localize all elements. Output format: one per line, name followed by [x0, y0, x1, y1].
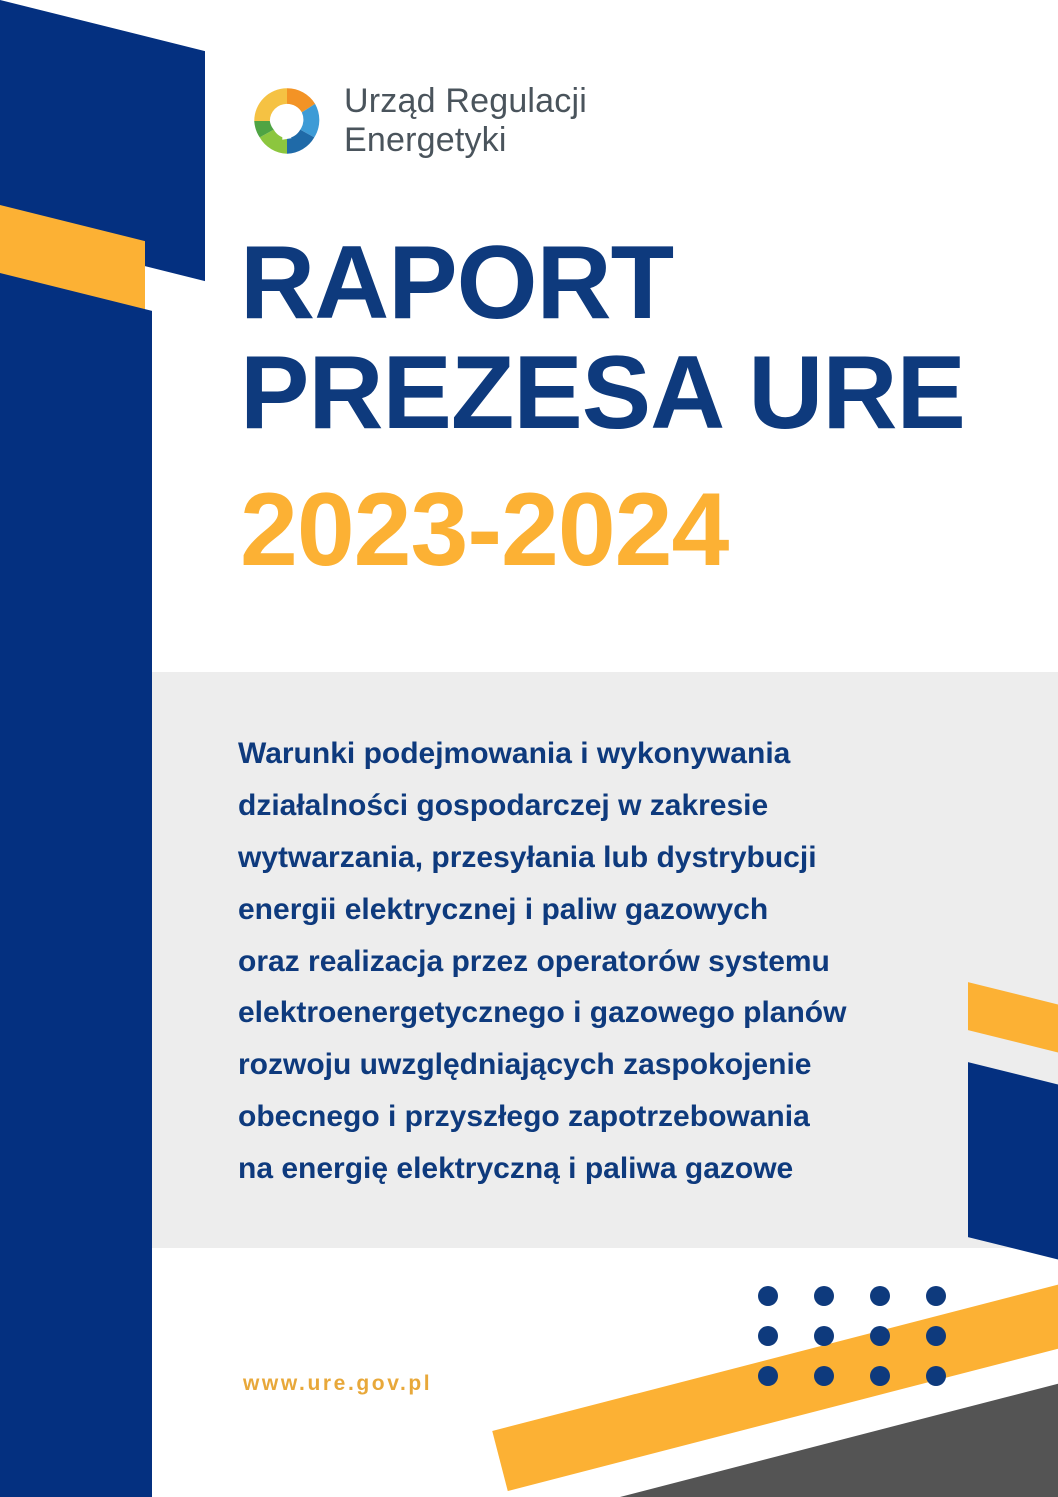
dot	[814, 1366, 834, 1386]
subtitle-text: Warunki podejmowania i wykonywania dział…	[238, 728, 958, 1195]
dot	[926, 1286, 946, 1306]
dot	[758, 1286, 778, 1306]
left-blue-vertical-band	[0, 320, 152, 1497]
right-blue-band	[968, 1062, 1058, 1267]
dot	[758, 1326, 778, 1346]
website-url[interactable]: www.ure.gov.pl	[243, 1372, 432, 1396]
dot	[814, 1286, 834, 1306]
ure-circular-swirl-logo-icon	[248, 82, 326, 160]
dot	[926, 1326, 946, 1346]
dot	[870, 1286, 890, 1306]
organization-name: Urząd Regulacji Energetyki	[344, 82, 587, 161]
dot	[870, 1326, 890, 1346]
dot	[870, 1366, 890, 1386]
page-title: RAPORT PREZESA URE	[240, 228, 1030, 448]
dot-grid-decoration	[758, 1286, 982, 1406]
dot	[758, 1366, 778, 1386]
dot	[814, 1326, 834, 1346]
year-range: 2023-2024	[240, 478, 728, 582]
dot	[926, 1366, 946, 1386]
report-cover-page: Urząd Regulacji Energetyki RAPORT PREZES…	[0, 0, 1058, 1497]
organization-logo: Urząd Regulacji Energetyki	[248, 82, 587, 161]
